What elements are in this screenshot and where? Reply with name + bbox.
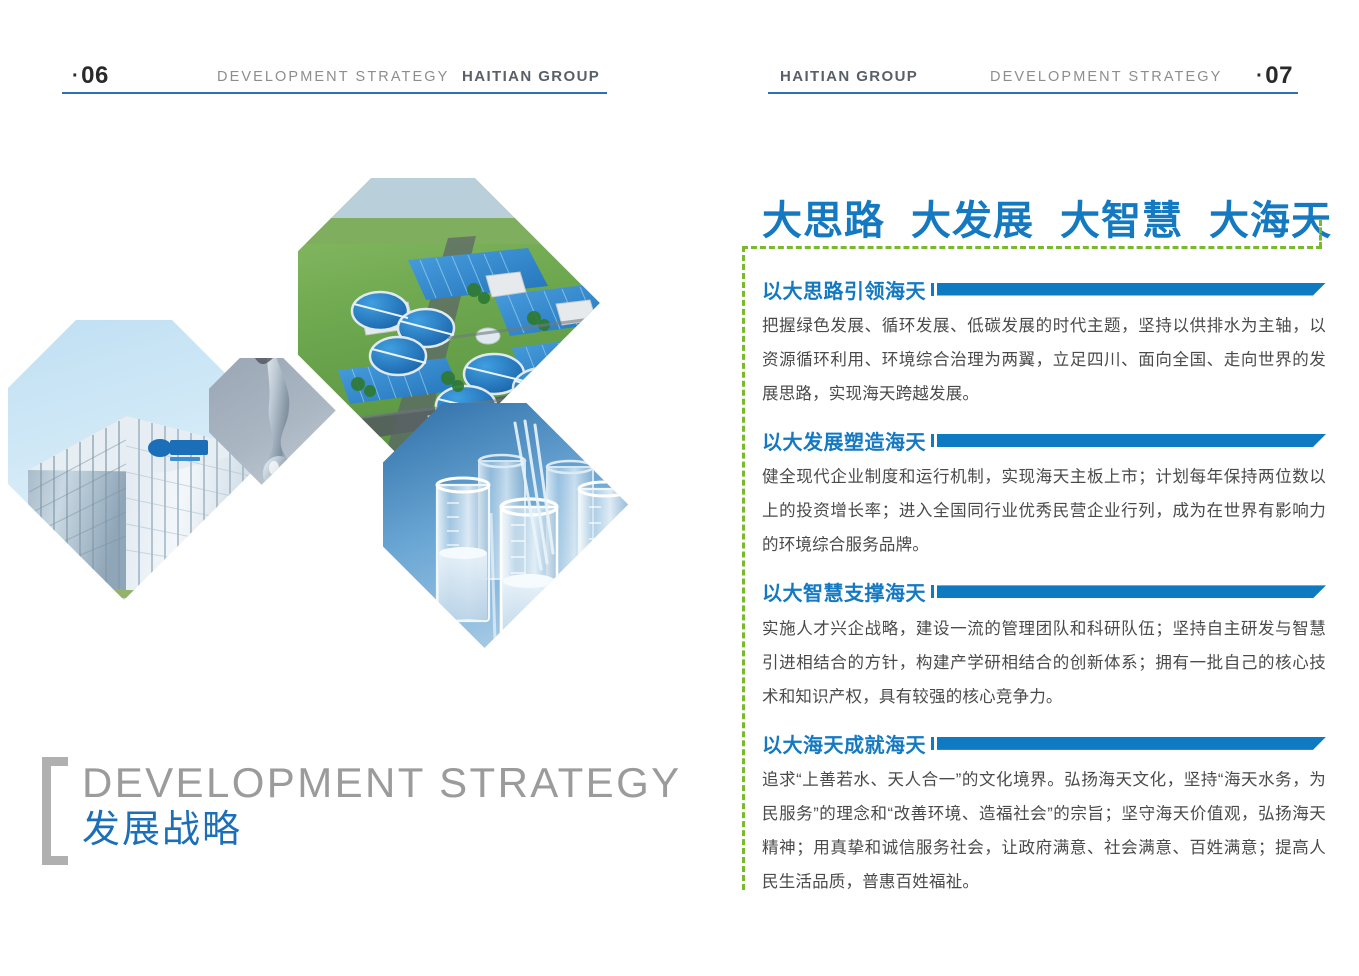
- section-2-tick-icon: [931, 434, 934, 447]
- page-number-dot: ·: [72, 65, 79, 87]
- section-4-body: 追求“上善若水、天人合一”的文化境界。弘扬海天文化，坚持“海天水务，为民服务”的…: [762, 764, 1326, 899]
- dashed-rule-left: [742, 246, 745, 890]
- section-4-tick-icon: [931, 737, 934, 750]
- section-3-body: 实施人才兴企战略，建设一流的管理团队和科研队伍；坚持自主研发与智慧引进相结合的方…: [762, 613, 1326, 714]
- strategy-section-1: 以大思路引领海天 把握绿色发展、循环发展、低碳发展的时代主题，坚持以供排水为主轴…: [762, 276, 1326, 411]
- section-3-heading-row: 以大智慧支撑海天: [762, 579, 1326, 605]
- section-4-arrow-bar-icon: [937, 737, 1326, 750]
- strategy-sections: 以大思路引领海天 把握绿色发展、循环发展、低碳发展的时代主题，坚持以供排水为主轴…: [762, 276, 1326, 900]
- dashed-rule-top: [742, 246, 1322, 249]
- section-3-tick-icon: [931, 585, 934, 598]
- slogan-segment-4: 大海天: [1209, 199, 1332, 243]
- strategy-section-4: 以大海天成就海天 追求“上善若水、天人合一”的文化境界。弘扬海天文化，坚持“海天…: [762, 730, 1326, 899]
- section-1-heading: 以大思路引领海天: [762, 275, 926, 304]
- lab-photo-inner: [383, 403, 586, 606]
- page-title-english: DEVELOPMENT STRATEGY: [82, 761, 682, 806]
- section-4-paragraph: 追求“上善若水、天人合一”的文化境界。弘扬海天文化，坚持“海天水务，为民服务”的…: [762, 764, 1326, 899]
- slogan-segment-2: 大发展: [911, 199, 1034, 243]
- section-1-heading-row: 以大思路引领海天: [762, 276, 1326, 302]
- office-building-photo-inner: [8, 320, 240, 552]
- section-2-arrow-bar-icon: [937, 434, 1326, 447]
- right-header-rule: [768, 92, 1298, 94]
- section-4-heading-row: 以大海天成就海天: [762, 730, 1326, 756]
- right-page-number: ·07: [1256, 62, 1293, 90]
- section-3-paragraph: 实施人才兴企战略，建设一流的管理团队和科研队伍；坚持自主研发与智慧引进相结合的方…: [762, 613, 1326, 714]
- left-header-rule: [62, 92, 607, 94]
- water-drop-photo-inner: [209, 358, 314, 463]
- brochure-spread: ·06 DEVELOPMENT STRATEGY HAITIAN GROUP H…: [0, 0, 1359, 976]
- section-2-heading: 以大发展塑造海天: [762, 426, 926, 455]
- slogan-title: 大思路大发展大智慧大海天: [762, 188, 1332, 246]
- right-header-section-label: DEVELOPMENT STRATEGY: [990, 69, 1222, 85]
- right-header-row: HAITIAN GROUP DEVELOPMENT STRATEGY ·07: [768, 60, 1298, 92]
- dashed-corner-stub: [1319, 220, 1322, 248]
- section-2-body: 健全现代企业制度和运行机制，实现海天主板上市；计划每年保持两位数以上的投资增长率…: [762, 461, 1326, 562]
- section-1-arrow-bar-icon: [937, 283, 1326, 296]
- lab-beakers-illustration: [383, 403, 628, 648]
- left-header-brand: HAITIAN GROUP: [462, 68, 600, 85]
- left-page-header: ·06 DEVELOPMENT STRATEGY HAITIAN GROUP: [62, 60, 607, 100]
- left-header-row: ·06 DEVELOPMENT STRATEGY HAITIAN GROUP: [62, 60, 607, 92]
- page-title-text: DEVELOPMENT STRATEGY 发展战略: [82, 757, 682, 865]
- right-page-content: 大思路大发展大智慧大海天 以大思路引领海天 把握绿色发展、循环发展、低碳发展的时…: [736, 180, 1326, 900]
- page-number-dot: ·: [1256, 65, 1263, 87]
- strategy-section-2: 以大发展塑造海天 健全现代企业制度和运行机制，实现海天主板上市；计划每年保持两位…: [762, 427, 1326, 562]
- page-title-chinese: 发展战略: [82, 808, 682, 854]
- section-3-arrow-bar-icon: [937, 585, 1326, 598]
- page-title: DEVELOPMENT STRATEGY 发展战略: [42, 757, 682, 865]
- section-1-body: 把握绿色发展、循环发展、低碳发展的时代主题，坚持以供排水为主轴，以资源循环利用、…: [762, 310, 1326, 411]
- right-header-brand: HAITIAN GROUP: [780, 68, 918, 85]
- left-header-section-label: DEVELOPMENT STRATEGY: [217, 69, 449, 85]
- slogan-segment-1: 大思路: [762, 199, 885, 243]
- section-2-heading-row: 以大发展塑造海天: [762, 427, 1326, 453]
- left-page-number-value: 06: [81, 62, 109, 89]
- bracket-ornament: [42, 757, 68, 865]
- section-3-heading: 以大智慧支撑海天: [762, 577, 926, 606]
- left-page-number: ·06: [72, 62, 109, 90]
- slogan-segment-3: 大智慧: [1060, 199, 1183, 243]
- section-1-paragraph: 把握绿色发展、循环发展、低碳发展的时代主题，坚持以供排水为主轴，以资源循环利用、…: [762, 310, 1326, 411]
- strategy-section-3: 以大智慧支撑海天 实施人才兴企战略，建设一流的管理团队和科研队伍；坚持自主研发与…: [762, 579, 1326, 714]
- section-4-heading: 以大海天成就海天: [762, 729, 926, 758]
- section-1-tick-icon: [931, 283, 934, 296]
- right-page-number-value: 07: [1265, 62, 1293, 89]
- section-2-paragraph: 健全现代企业制度和运行机制，实现海天主板上市；计划每年保持两位数以上的投资增长率…: [762, 461, 1326, 562]
- right-page-header: HAITIAN GROUP DEVELOPMENT STRATEGY ·07: [768, 60, 1298, 100]
- diamond-image-collage: [0, 150, 660, 670]
